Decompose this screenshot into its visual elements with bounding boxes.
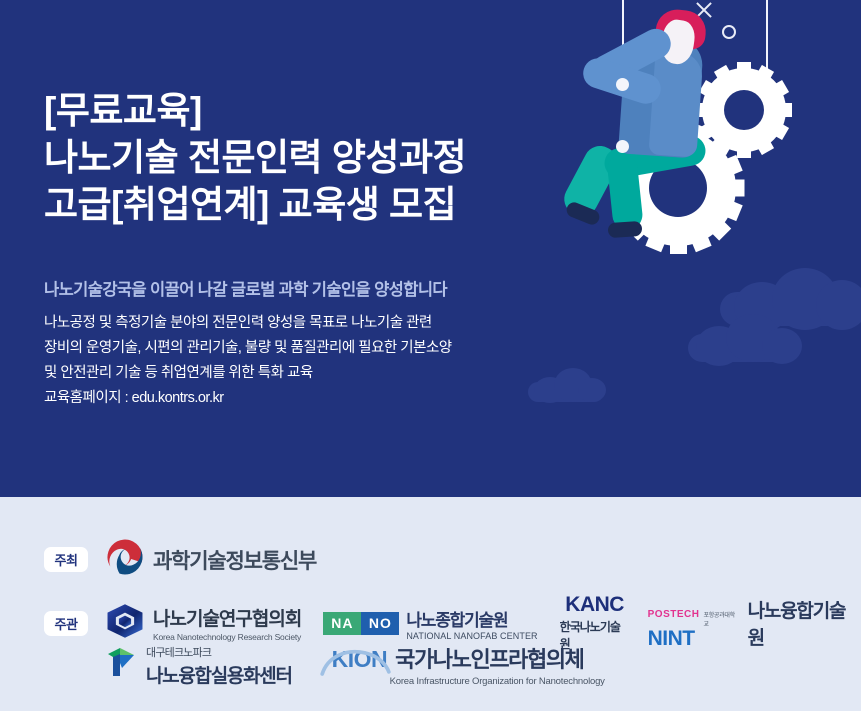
body-line-3: 및 안전관리 기술 등 취업연계를 위한 특화 교육 [44, 361, 564, 386]
hero-body-block: 나노공정 및 측정기술 분야의 전문인력 양성을 목표로 나노기술 관련 장비의… [44, 311, 564, 411]
person-torso-highlight [648, 50, 703, 157]
hero-text-block: [무료교육] 나노기술 전문인력 양성과정 고급[취업연계] 교육생 모집 나노… [44, 88, 564, 411]
org-logo-kion[interactable]: KION 국가나노인프라협의체 Korea Infrastructure Org… [318, 642, 605, 689]
person-hand-upper [616, 78, 629, 91]
cloud-shape-medium [688, 314, 798, 362]
person-hand-lower [616, 140, 629, 153]
org-name-nnfc-en: NATIONAL NANOFAB CENTER [406, 631, 537, 641]
headline-line-2: 나노기술 전문인력 양성과정 [44, 135, 564, 182]
hero-section: [무료교육] 나노기술 전문인력 양성과정 고급[취업연계] 교육생 모집 나노… [0, 0, 861, 497]
org-name-msit: 과학기술정보통신부 [153, 545, 316, 575]
taeguk-emblem-icon [106, 538, 144, 581]
org-wordmark-nint: NINT [648, 628, 740, 650]
hero-illustration [566, 0, 861, 244]
nano-block-blue: NO [361, 612, 399, 635]
manage-badge: 주관 [44, 611, 88, 636]
kion-arc-icon [318, 646, 392, 689]
org-logo-nnfc[interactable]: NA NO 나노종합기술원 NATIONAL NANOFAB CENTER [323, 606, 537, 641]
promo-banner: [무료교육] 나노기술 전문인력 양성과정 고급[취업연계] 교육생 모집 나노… [0, 0, 861, 711]
knrs-hexagon-icon [106, 604, 144, 643]
manage-row-2: 대구테크노파크 나노융합실용화센터 KION 국가나노인프라협의체 Korea … [105, 642, 605, 689]
org-logo-nint[interactable]: POSTECH 포항공과대학교 NINT 나노융합기술원 [648, 596, 861, 650]
hero-subtitle: 나노기술강국을 이끌어 나갈 글로벌 과학 기술인을 양성합니다 [44, 276, 564, 300]
org-logo-dgtp[interactable]: 대구테크노파크 나노융합실용화센터 [105, 644, 292, 688]
host-badge: 주최 [44, 547, 88, 572]
org-logo-knrs[interactable]: 나노기술연구협의회 Korea Nanotechnology Research … [106, 604, 301, 643]
body-line-1: 나노공정 및 측정기술 분야의 전문인력 양성을 목표로 나노기술 관련 [44, 311, 564, 336]
org-name-nnfc-ko: 나노종합기술원 [406, 606, 537, 631]
host-row: 주최 과학기술정보통신부 [44, 538, 340, 581]
daegu-tp-icon [105, 646, 137, 685]
org-wordmark-postech: POSTECH [648, 610, 700, 620]
org-logo-msit[interactable]: 과학기술정보통신부 [106, 538, 316, 581]
org-name-knrs-en: Korea Nanotechnology Research Society [153, 632, 301, 642]
headline-line-3: 고급[취업연계] 교육생 모집 [44, 182, 564, 229]
nano-block-green: NA [323, 612, 361, 635]
org-name-kion-ko: 국가나노인프라협의체 [395, 642, 583, 674]
org-name-dgtp-small: 대구테크노파크 [146, 644, 292, 660]
org-name-kion-en: Korea Infrastructure Organization for Na… [390, 676, 605, 687]
org-name-nint-ko: 나노융합기술원 [748, 596, 861, 650]
headline-line-1: [무료교육] [44, 88, 564, 135]
body-line-website: 교육홈페이지 : edu.kontrs.or.kr [44, 386, 564, 411]
org-name-dgtp-ko: 나노융합실용화센터 [146, 661, 292, 688]
org-wordmark-postech-sub: 포항공과대학교 [703, 610, 739, 628]
person-shoe-front [608, 221, 643, 238]
body-line-2: 장비의 운영기술, 시편의 관리기술, 불량 및 품질관리에 필요한 기본소양 [44, 336, 564, 361]
nano-wordmark-icon: NA NO [323, 612, 399, 635]
person-figure [566, 0, 766, 244]
org-name-knrs-ko: 나노기술연구협의회 [153, 604, 301, 631]
org-wordmark-kanc: KANC [565, 594, 624, 615]
